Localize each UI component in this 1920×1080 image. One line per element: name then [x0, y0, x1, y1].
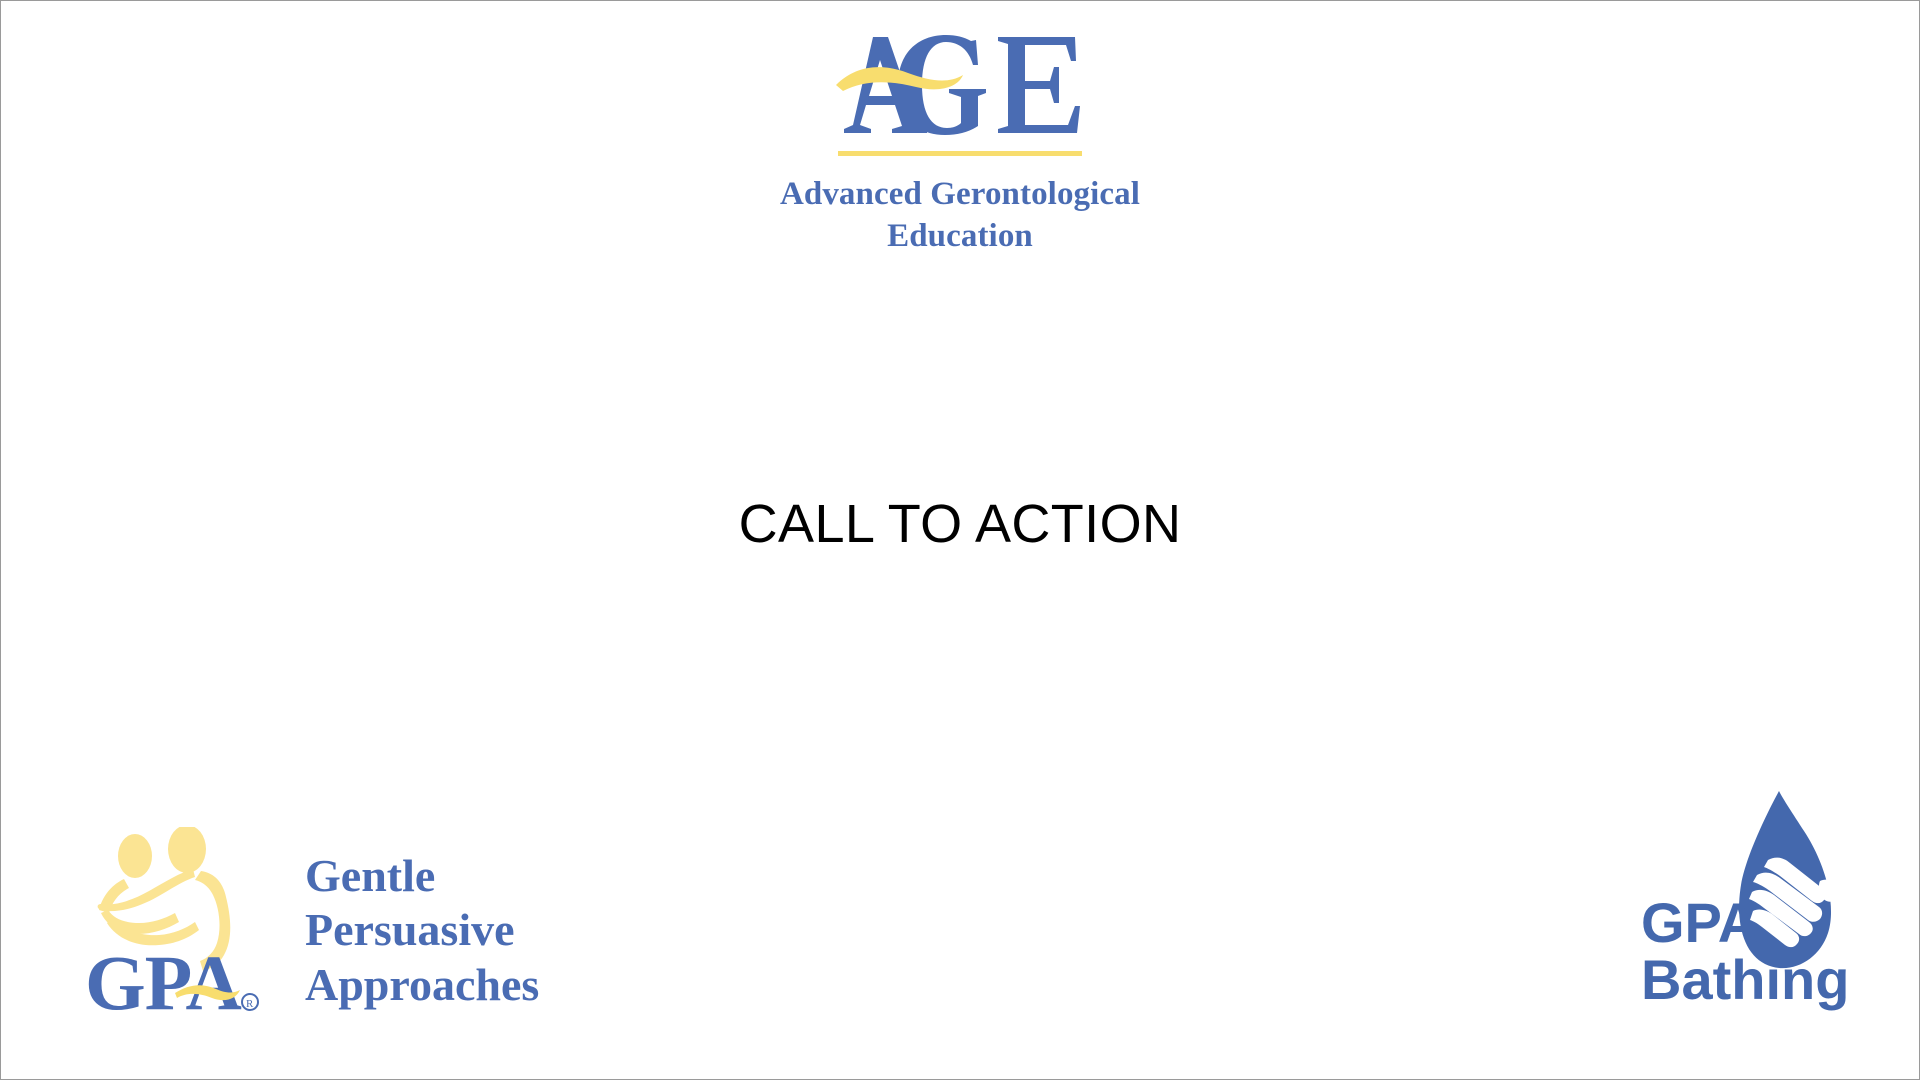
slide-canvas: Advanced Gerontological Education CALL T…	[0, 0, 1920, 1080]
age-tagline: Advanced Gerontological Education	[700, 174, 1220, 257]
gpa-registered-icon: R	[242, 994, 258, 1010]
gpa-name: Gentle Persuasive Approaches	[305, 849, 539, 1012]
bathing-wordmark-line-1: GPA	[1641, 891, 1758, 954]
age-tagline-line-2: Education	[700, 216, 1220, 258]
svg-text:R: R	[246, 998, 254, 1010]
gpa-wordmark-icon: GPA	[85, 939, 242, 1017]
bathing-wordmark-line-2: Bathing	[1641, 948, 1847, 1011]
gpa-logo: GPA R Gentle Persuasive Approaches	[83, 827, 539, 1017]
gpa-mark: GPA R	[83, 827, 261, 1017]
gpa-bathing-logo: GPA Bathing	[1639, 787, 1847, 1027]
age-logo: Advanced Gerontological Education	[700, 29, 1220, 257]
svg-text:GPA: GPA	[85, 939, 242, 1017]
gpa-name-line-2: Persuasive	[305, 903, 539, 957]
gpa-name-line-3: Approaches	[305, 958, 539, 1012]
gpa-name-line-1: Gentle	[305, 849, 539, 903]
age-wordmark-mark	[830, 29, 1090, 141]
slide-headline: CALL TO ACTION	[1, 497, 1919, 551]
age-wordmark-icon	[830, 29, 1090, 141]
age-divider-rule	[838, 151, 1082, 156]
age-tagline-line-1: Advanced Gerontological	[700, 174, 1220, 216]
